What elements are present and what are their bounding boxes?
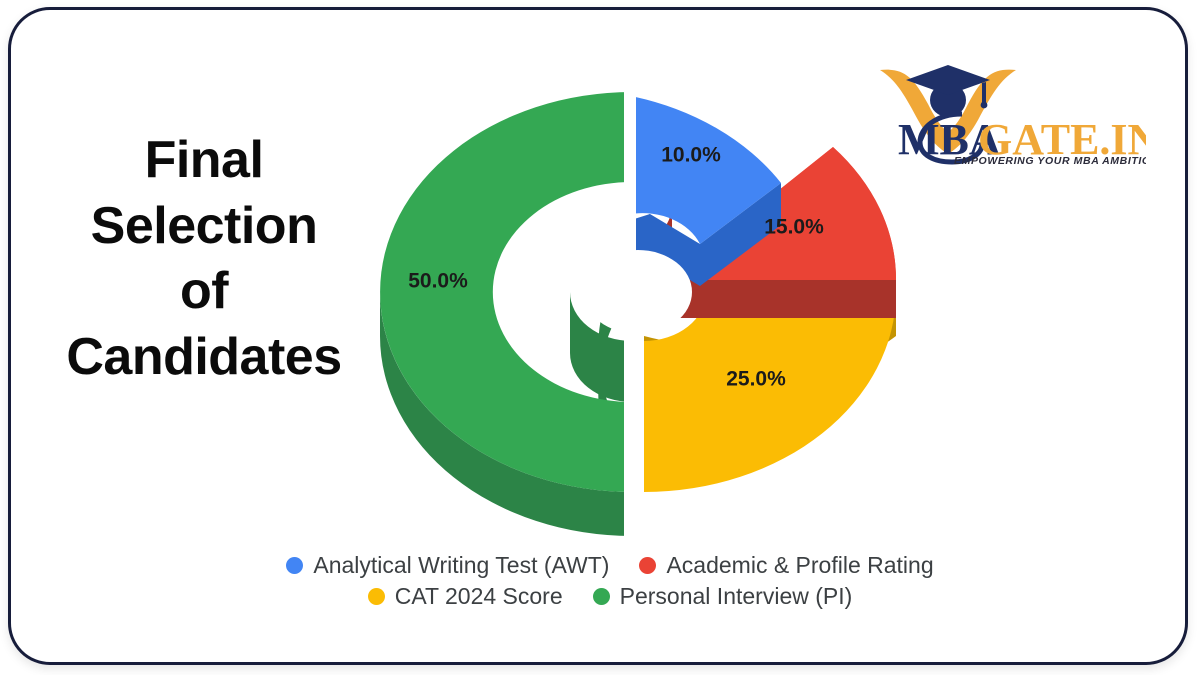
slice-label-awt: 10.0%	[661, 144, 721, 167]
legend-swatch-personal-interview	[593, 588, 610, 605]
slice-yellow-top	[644, 292, 896, 492]
chart-legend: Analytical Writing Test (AWT) Academic &…	[150, 552, 1070, 610]
screenshot-canvas: Final Selection of Candidates MBA GATE.I…	[0, 0, 1200, 675]
legend-row-1: Analytical Writing Test (AWT) Academic &…	[286, 552, 933, 579]
legend-item-cat-score[interactable]: CAT 2024 Score	[368, 583, 563, 610]
logo-tagline: EMPOWERING YOUR MBA AMBITIONS	[954, 155, 1146, 166]
legend-row-2: CAT 2024 Score Personal Interview (PI)	[368, 583, 853, 610]
slice-label-personal-interview: 50.0%	[408, 270, 468, 293]
legend-item-academic-rating[interactable]: Academic & Profile Rating	[639, 552, 933, 579]
pie-slice-cat-score[interactable]	[644, 292, 896, 536]
donut-hole	[584, 250, 692, 334]
legend-label-personal-interview: Personal Interview (PI)	[620, 583, 853, 610]
legend-item-personal-interview[interactable]: Personal Interview (PI)	[593, 583, 853, 610]
legend-label-academic-rating: Academic & Profile Rating	[666, 552, 933, 579]
legend-item-awt[interactable]: Analytical Writing Test (AWT)	[286, 552, 609, 579]
legend-label-cat-score: CAT 2024 Score	[395, 583, 563, 610]
slice-label-cat-score: 25.0%	[726, 368, 786, 391]
legend-swatch-academic-rating	[639, 557, 656, 574]
pie-chart: 50.0% 10.0% 15.0% 25.0%	[320, 70, 960, 540]
legend-swatch-cat-score	[368, 588, 385, 605]
legend-label-awt: Analytical Writing Test (AWT)	[313, 552, 609, 579]
slice-label-academic-rating: 15.0%	[764, 216, 824, 239]
legend-swatch-awt	[286, 557, 303, 574]
